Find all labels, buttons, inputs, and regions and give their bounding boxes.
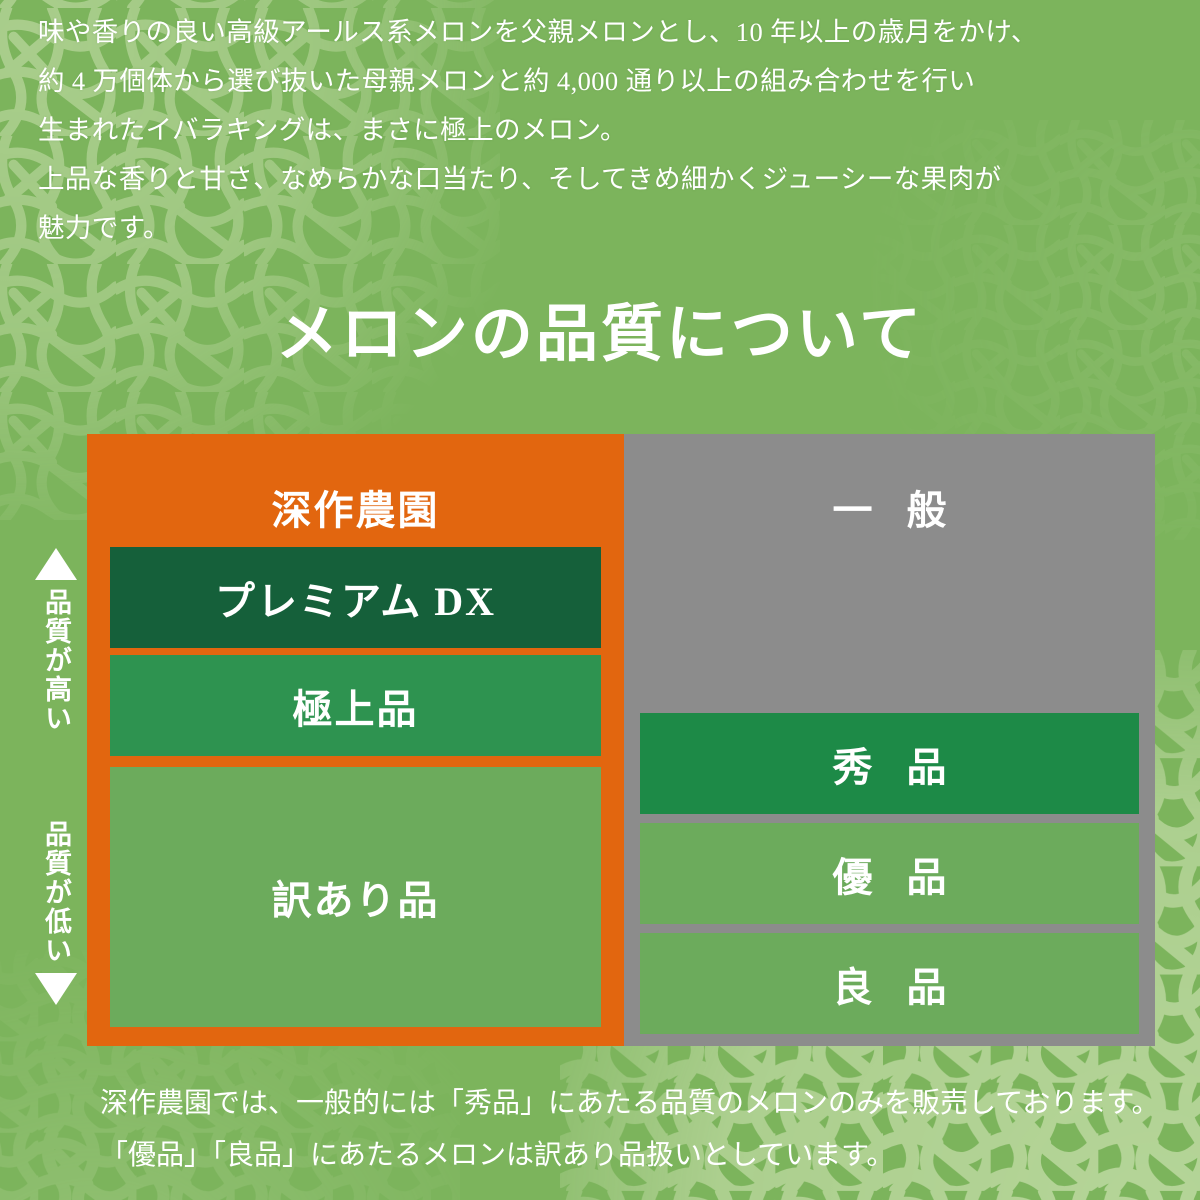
grade-box-yuhin: 優 品	[640, 823, 1139, 924]
column-heading-general: 一 般	[624, 491, 1155, 531]
triangle-up-icon	[35, 548, 77, 580]
column-fukasaku-farm: 深作農園 プレミアム DX 極上品 訳あり品	[87, 434, 624, 1046]
grade-box-shuhin: 秀 品	[640, 713, 1139, 814]
column-heading-fukasaku: 深作農園	[87, 491, 624, 531]
grade-box-wakeari: 訳あり品	[110, 767, 601, 1027]
grade-box-gokujohin: 極上品	[110, 655, 601, 756]
grade-box-ryohin: 良 品	[640, 933, 1139, 1034]
quality-axis-high: 品質が高い	[30, 548, 82, 733]
footnote-line: 深作農園では、一般的には「秀品」にあたる品質のメロンのみを販売しております。	[100, 1078, 1160, 1130]
quality-axis-low: 品質が低い	[30, 820, 82, 1005]
column-general: 一 般 秀 品 優 品 良 品	[624, 434, 1155, 1046]
triangle-down-icon	[35, 973, 77, 1005]
footnote-line: 「優品」「良品」にあたるメロンは訳あり品扱いとしています。	[100, 1130, 1160, 1182]
quality-axis: 品質が高い 品質が低い	[30, 548, 82, 1048]
quality-high-label: 品質が高い	[41, 588, 71, 733]
grade-box-premium-dx: プレミアム DX	[110, 547, 601, 648]
infographic-page: 味や香りの良い高級アールス系メロンを父親メロンとし、10 年以上の歳月をかけ、 …	[0, 0, 1200, 1200]
footnote-text: 深作農園では、一般的には「秀品」にあたる品質のメロンのみを販売しております。 「…	[100, 1078, 1160, 1182]
quality-low-label: 品質が低い	[41, 820, 71, 965]
quality-comparison-diagram: 品質が高い 品質が低い 深作農園 プレミアム DX 極上品 訳あり品 一 般 秀…	[0, 0, 1200, 1200]
